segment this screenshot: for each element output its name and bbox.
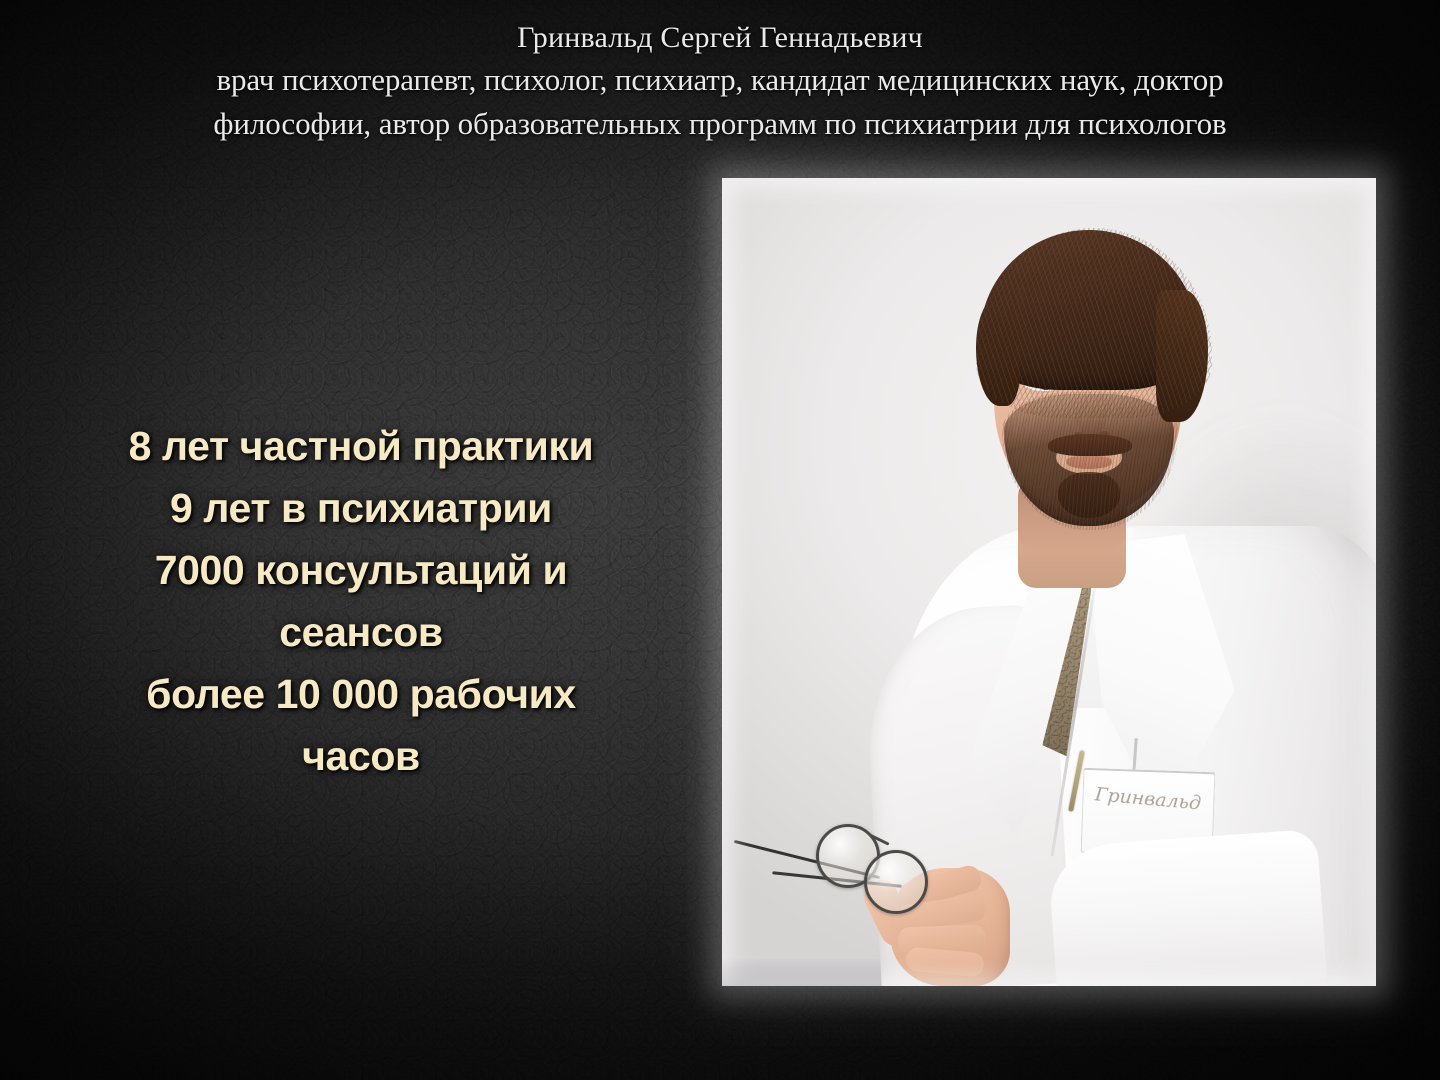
stat-line-psychiatry-years: 9 лет в психиатрии [36, 477, 686, 539]
doctor-name: Гринвальд Сергей Геннадьевич [0, 18, 1440, 58]
slide-root: Гринвальд Сергей Геннадьевич врач психот… [0, 0, 1440, 1080]
doctor-photo-frame: Гринвальд [722, 178, 1376, 986]
eyeglasses [732, 798, 992, 928]
header-block: Гринвальд Сергей Геннадьевич врач психот… [0, 18, 1440, 146]
stat-line-sessions: сеансов [36, 601, 686, 663]
eyeglasses-lens-right [864, 850, 928, 914]
stat-line-hours: часов [36, 725, 686, 787]
stat-line-working-hours: более 10 000 рабочих [36, 663, 686, 725]
forearm [1047, 829, 1327, 986]
stat-line-consultations: 7000 консультаций и [36, 539, 686, 601]
hair-texture [976, 228, 1212, 418]
doctor-credentials-line-1: врач психотерапевт, психолог, психиатр, … [0, 58, 1440, 102]
statistics-block: 8 лет частной практики 9 лет в психиатри… [36, 415, 686, 787]
stat-line-private-practice: 8 лет частной практики [36, 415, 686, 477]
doctor-photo: Гринвальд [722, 178, 1376, 986]
doctor-credentials-line-2: философии, автор образовательных програм… [0, 102, 1440, 146]
doctor-figure: Гринвальд [722, 178, 1376, 986]
